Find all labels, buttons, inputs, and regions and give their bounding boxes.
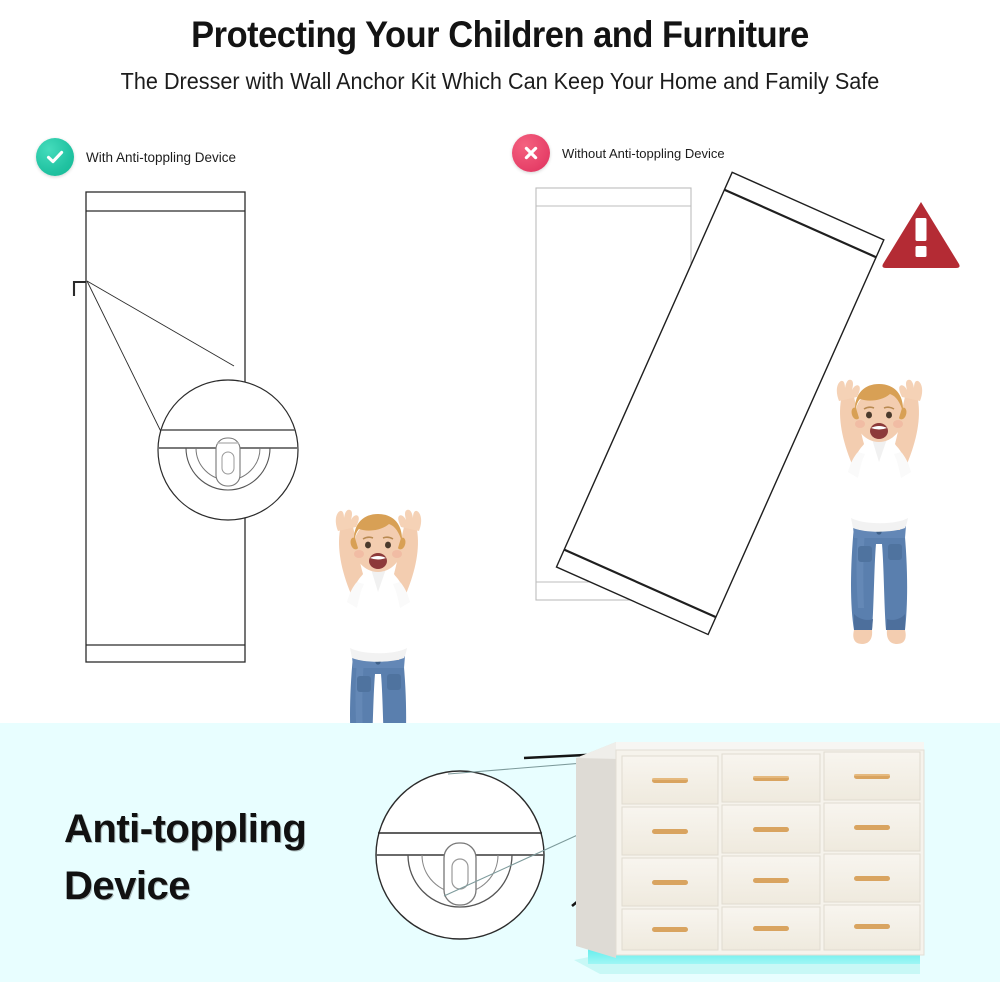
product-infographic: Protecting Your Children and Furniture T… bbox=[0, 0, 1000, 1000]
banner-title-line2: Device bbox=[64, 858, 306, 915]
warning-triangle-icon bbox=[880, 198, 962, 270]
anchor-magnifier bbox=[158, 380, 298, 520]
banner-title-line1: Anti-toppling bbox=[64, 801, 306, 858]
led-dresser-image bbox=[548, 722, 1000, 990]
banner-title: Anti-toppling Device bbox=[64, 801, 306, 915]
page-subtitle: The Dresser with Wall Anchor Kit Which C… bbox=[30, 68, 970, 95]
panel-without-device: Without Anti-toppling Device bbox=[500, 130, 990, 700]
panel-with-device: With Anti-toppling Device bbox=[18, 130, 478, 700]
page-title: Protecting Your Children and Furniture bbox=[35, 14, 965, 56]
child-figure-right bbox=[812, 368, 947, 668]
anchor-detail-circle-icon bbox=[360, 755, 560, 955]
